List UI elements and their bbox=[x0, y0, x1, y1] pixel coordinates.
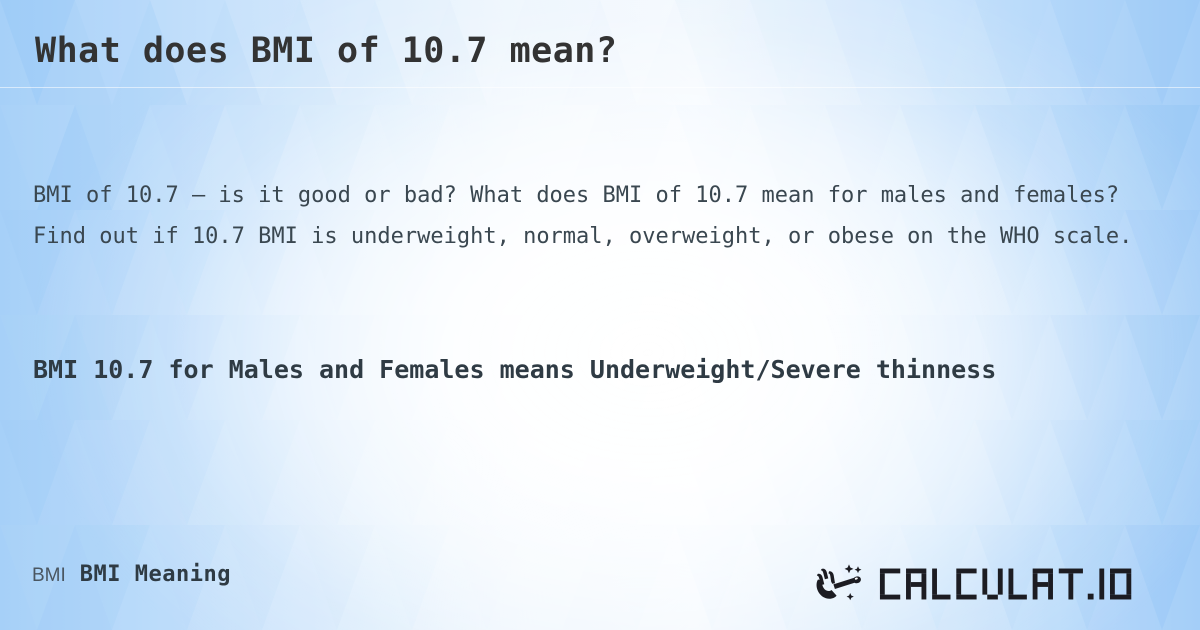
description-text: BMI of 10.7 — is it good or bad? What do… bbox=[33, 175, 1168, 257]
site-tag-label: BMI bbox=[32, 566, 66, 585]
og-card: What does BMI of 10.7 mean? BMI of 10.7 … bbox=[0, 0, 1200, 630]
brand-wordmark bbox=[878, 564, 1168, 604]
breadcrumb: BMI BMI Meaning bbox=[32, 564, 231, 586]
bmi-result-text: BMI 10.7 for Males and Females means Und… bbox=[33, 346, 1033, 393]
header: What does BMI of 10.7 mean? bbox=[0, 0, 1200, 88]
footer: BMI BMI Meaning bbox=[0, 544, 1200, 630]
breadcrumb-label[interactable]: BMI Meaning bbox=[80, 564, 231, 586]
magic-wand-hand-icon bbox=[816, 562, 872, 606]
page-title: What does BMI of 10.7 mean? bbox=[35, 31, 617, 71]
brand-logo[interactable] bbox=[816, 558, 1168, 610]
